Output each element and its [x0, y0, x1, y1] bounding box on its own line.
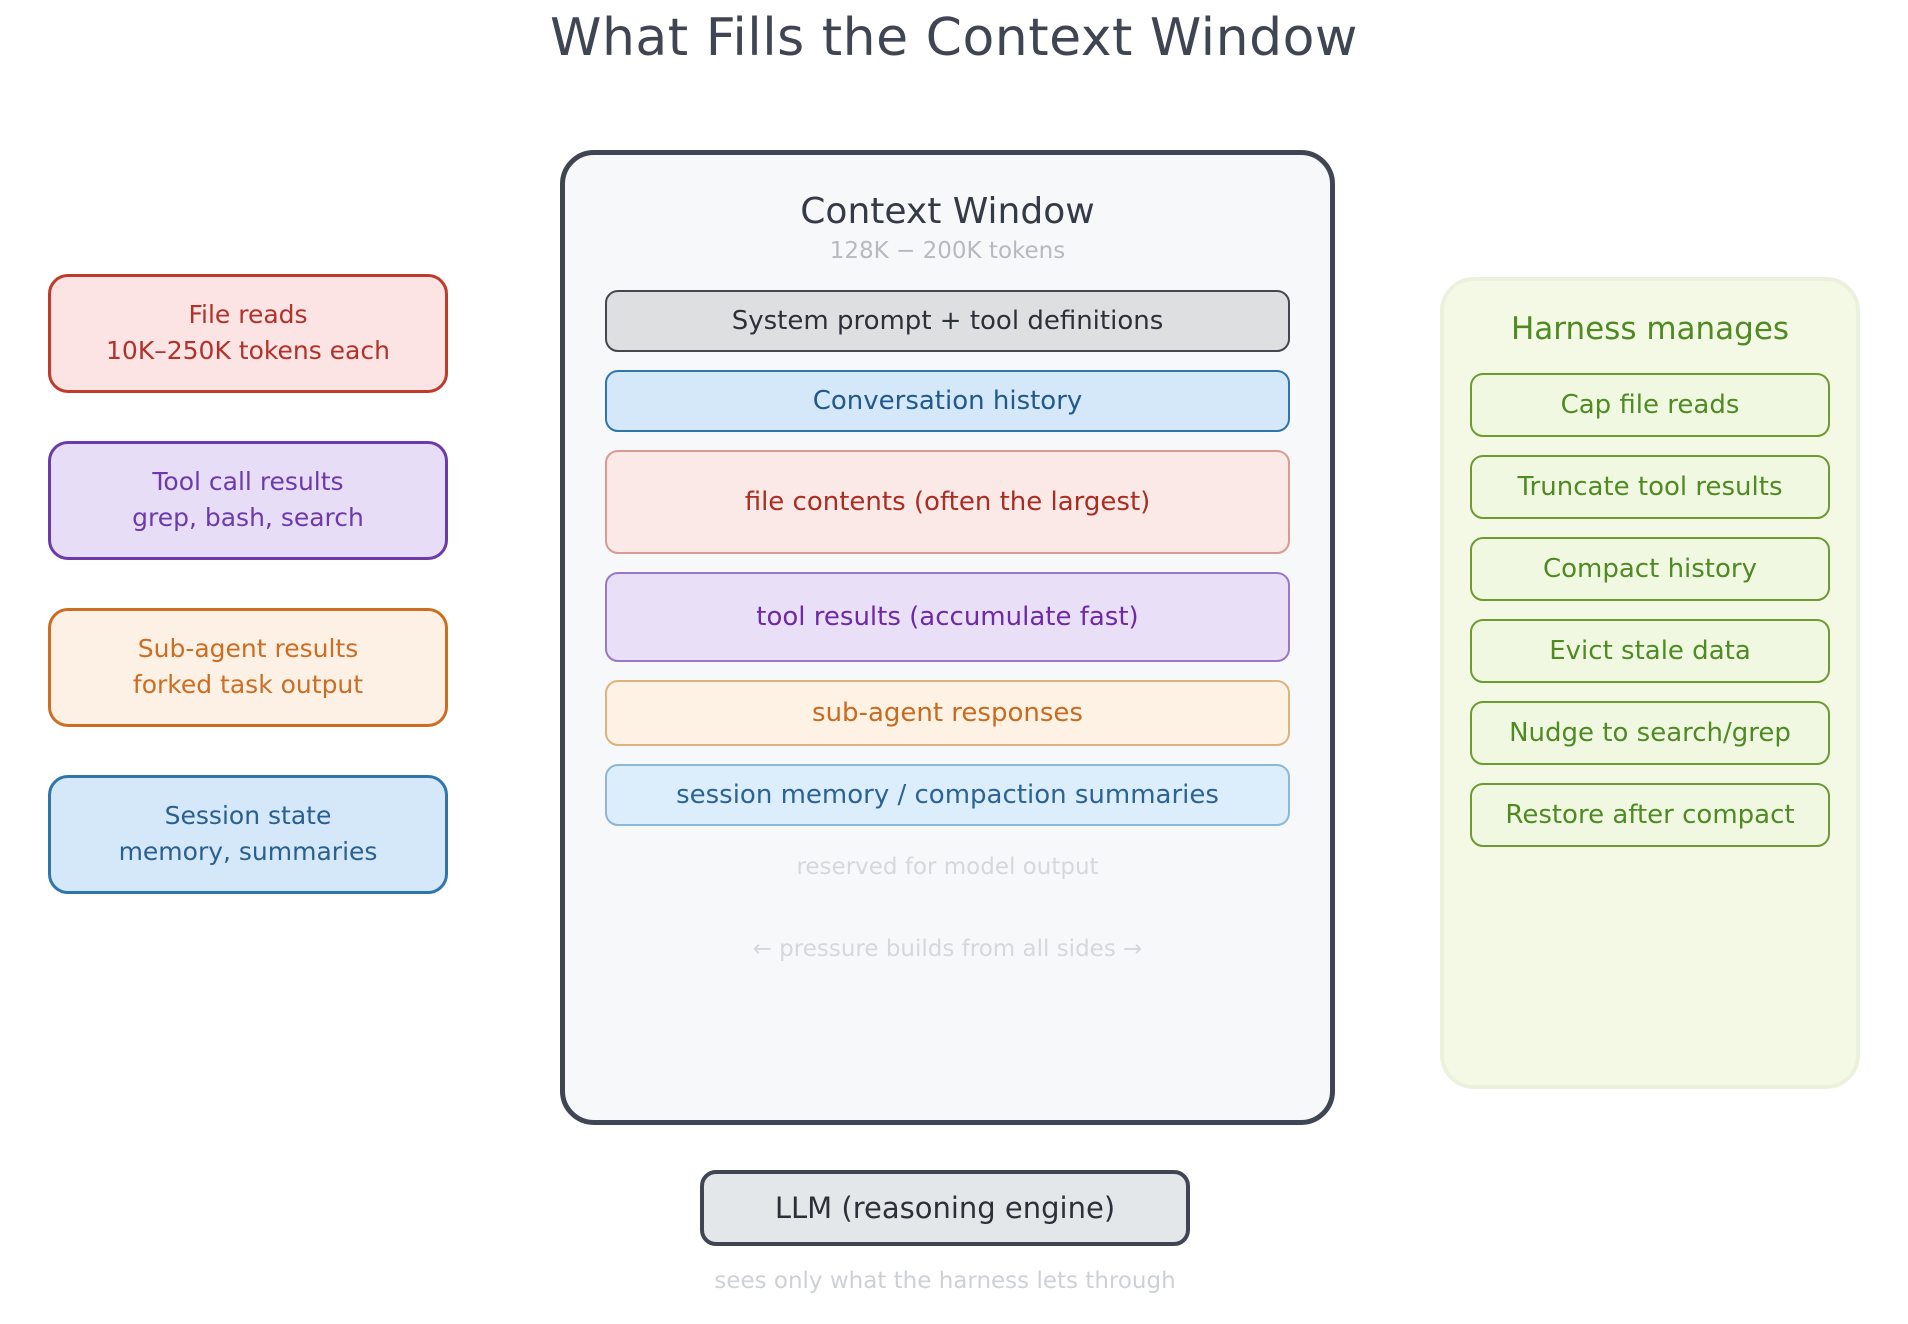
source-card-subtitle: forked task output	[65, 667, 431, 703]
llm-label: LLM (reasoning engine)	[775, 1191, 1115, 1225]
source-card-tool-call-results: Tool call results grep, bash, search	[48, 441, 448, 560]
source-card-title: File reads	[65, 297, 431, 333]
llm-note: sees only what the harness lets through	[700, 1268, 1190, 1294]
segment-tool-results: tool results (accumulate fast)	[605, 572, 1290, 662]
segment-label: Conversation history	[813, 386, 1083, 416]
source-card-title: Tool call results	[65, 464, 431, 500]
harness-item-label: Evict stale data	[1549, 636, 1751, 666]
harness-item-label: Truncate tool results	[1518, 472, 1783, 502]
harness-item-label: Nudge to search/grep	[1509, 718, 1791, 748]
harness-item-label: Cap file reads	[1561, 390, 1740, 420]
source-card-title: Sub-agent results	[65, 631, 431, 667]
harness-item-compact-history: Compact history	[1470, 537, 1830, 601]
segment-label: session memory / compaction summaries	[676, 780, 1219, 810]
context-window-subtitle: 128K − 200K tokens	[605, 238, 1290, 264]
harness-panel-title: Harness manages	[1470, 311, 1830, 347]
reserved-output-note: reserved for model output	[605, 854, 1290, 880]
source-card-title: Session state	[65, 798, 431, 834]
source-card-subtitle: grep, bash, search	[65, 500, 431, 536]
segment-system-prompt: System prompt + tool definitions	[605, 290, 1290, 352]
source-card-session-state: Session state memory, summaries	[48, 775, 448, 894]
context-sources-column: File reads 10K–250K tokens each Tool cal…	[48, 274, 448, 894]
source-card-subtitle: memory, summaries	[65, 834, 431, 870]
harness-panel: Harness manages Cap file reads Truncate …	[1440, 277, 1860, 1089]
source-card-sub-agent-results: Sub-agent results forked task output	[48, 608, 448, 727]
segment-conversation-history: Conversation history	[605, 370, 1290, 432]
segment-label: System prompt + tool definitions	[732, 306, 1164, 336]
context-window-title: Context Window	[605, 191, 1290, 232]
page-title: What Fills the Context Window	[0, 8, 1908, 68]
segment-sub-agent-responses: sub-agent responses	[605, 680, 1290, 746]
segment-session-memory: session memory / compaction summaries	[605, 764, 1290, 826]
harness-item-restore-after-compact: Restore after compact	[1470, 783, 1830, 847]
harness-item-truncate-tool-results: Truncate tool results	[1470, 455, 1830, 519]
harness-item-label: Restore after compact	[1505, 800, 1794, 830]
harness-item-evict-stale-data: Evict stale data	[1470, 619, 1830, 683]
harness-item-label: Compact history	[1543, 554, 1757, 584]
segment-label: sub-agent responses	[812, 698, 1083, 728]
harness-item-nudge-to-search-grep: Nudge to search/grep	[1470, 701, 1830, 765]
source-card-subtitle: 10K–250K tokens each	[65, 333, 431, 369]
source-card-file-reads: File reads 10K–250K tokens each	[48, 274, 448, 393]
segment-file-contents: file contents (often the largest)	[605, 450, 1290, 554]
segment-label: file contents (often the largest)	[745, 487, 1151, 517]
segment-label: tool results (accumulate fast)	[756, 602, 1138, 632]
context-window-container: Context Window 128K − 200K tokens System…	[560, 150, 1335, 1125]
pressure-note: ← pressure builds from all sides →	[605, 936, 1290, 962]
llm-box: LLM (reasoning engine)	[700, 1170, 1190, 1246]
harness-item-cap-file-reads: Cap file reads	[1470, 373, 1830, 437]
